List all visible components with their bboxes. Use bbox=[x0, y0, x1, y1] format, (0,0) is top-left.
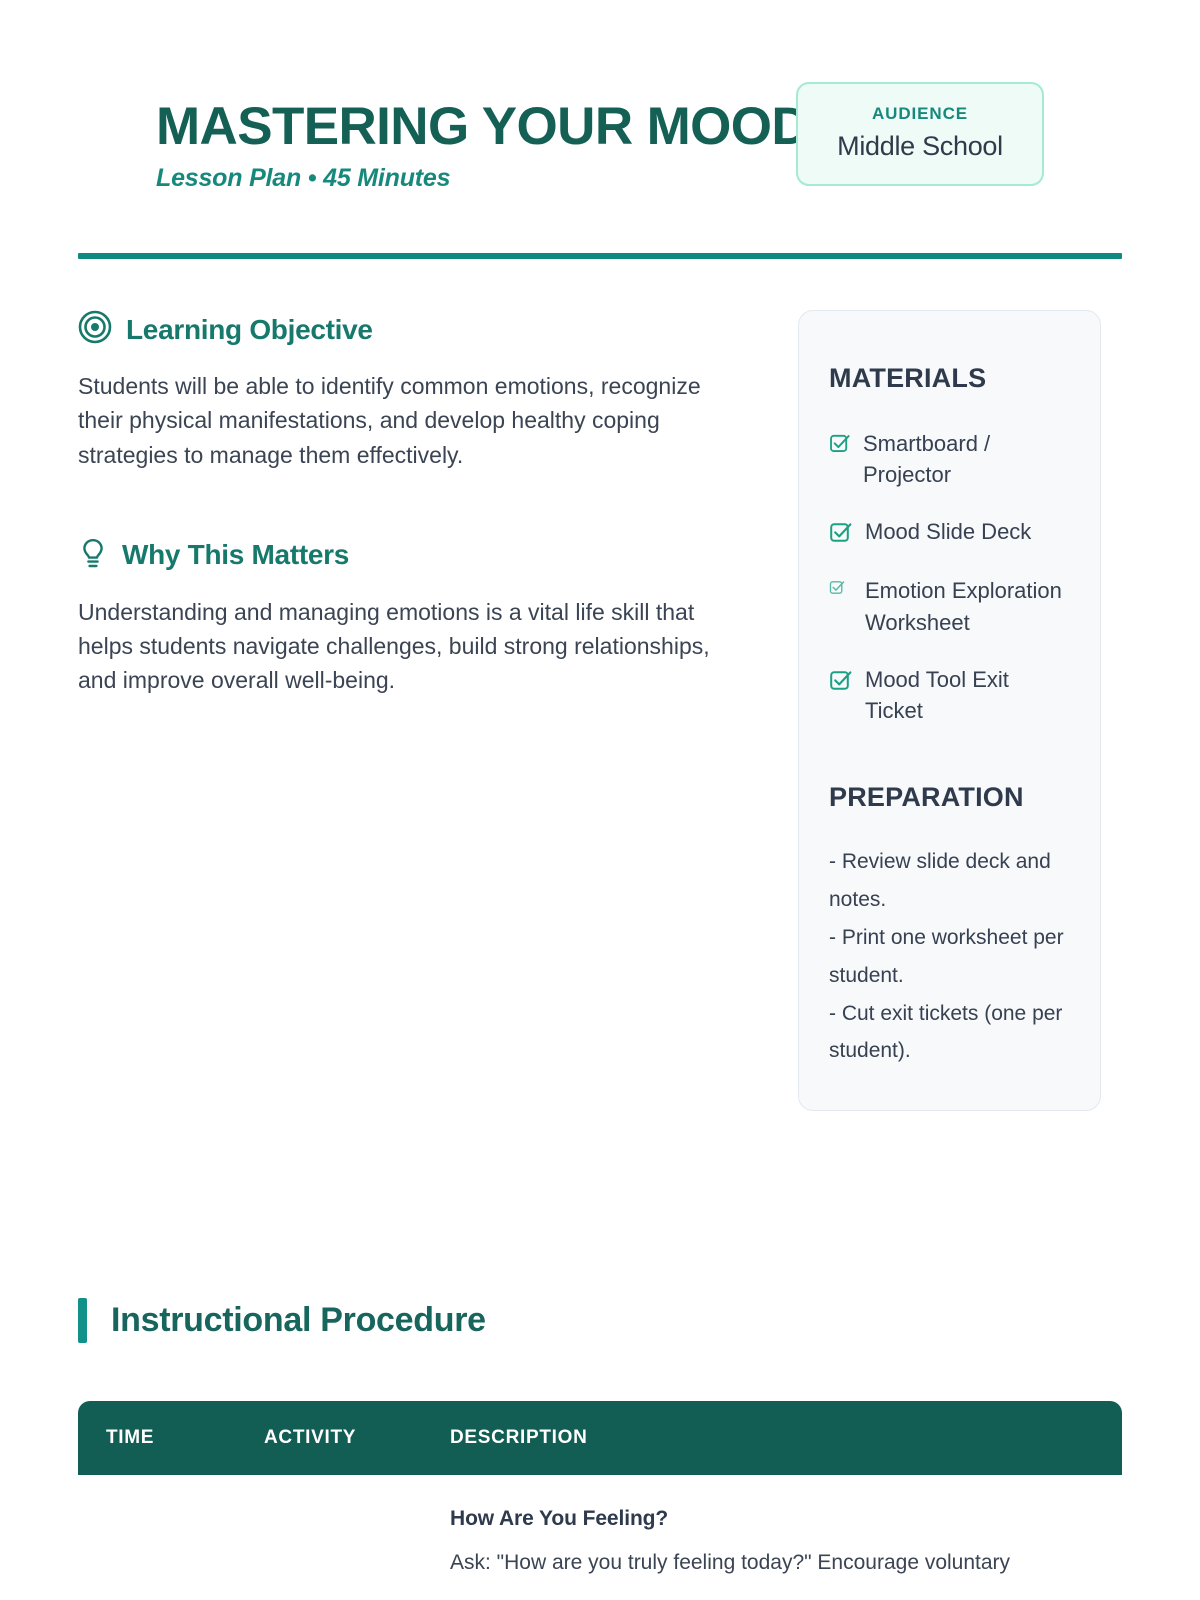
sidebar-column: MATERIALS Smartboard / Projector bbox=[798, 310, 1101, 1111]
preparation-list: - Review slide deck and notes. - Print o… bbox=[829, 843, 1070, 1070]
procedure-heading: Instructional Procedure bbox=[78, 1298, 1122, 1343]
procedure-title: Instructional Procedure bbox=[111, 1301, 486, 1340]
materials-list: Smartboard / Projector Mood Slide Deck bbox=[829, 428, 1070, 726]
table-header-row: TIME ACTIVITY DESCRIPTION bbox=[78, 1401, 1122, 1475]
list-item: - Print one worksheet per student. bbox=[829, 919, 1070, 995]
checkbox-checked-icon bbox=[829, 432, 851, 490]
activity-description: Ask: "How are you truly feeling today?" … bbox=[450, 1547, 1122, 1579]
cell-description: How Are You Feeling? Ask: "How are you t… bbox=[450, 1507, 1122, 1579]
cell-activity bbox=[264, 1507, 450, 1579]
checkbox-checked-icon bbox=[829, 579, 845, 619]
list-item: Mood Tool Exit Ticket bbox=[829, 664, 1070, 726]
learning-objective-section: Learning Objective Students will be able… bbox=[78, 310, 750, 472]
column-header-activity: ACTIVITY bbox=[264, 1427, 450, 1449]
table-row: How Are You Feeling? Ask: "How are you t… bbox=[78, 1475, 1122, 1579]
checkbox-checked-icon bbox=[829, 668, 853, 726]
lesson-plan-page: MASTERING YOUR MOOD Lesson Plan • 45 Min… bbox=[0, 0, 1200, 1600]
list-item: - Review slide deck and notes. bbox=[829, 843, 1070, 919]
material-label: Mood Tool Exit Ticket bbox=[865, 664, 1070, 726]
header-divider bbox=[78, 253, 1122, 259]
material-label: Emotion Exploration Worksheet bbox=[865, 575, 1070, 637]
audience-value: Middle School bbox=[808, 131, 1032, 162]
content-area: Learning Objective Students will be able… bbox=[78, 310, 1122, 1111]
learning-objective-text: Students will be able to identify common… bbox=[78, 369, 750, 472]
column-header-time: TIME bbox=[106, 1427, 264, 1449]
list-item: Mood Slide Deck bbox=[829, 516, 1070, 549]
document-header: MASTERING YOUR MOOD Lesson Plan • 45 Min… bbox=[78, 0, 1122, 168]
column-header-description: DESCRIPTION bbox=[450, 1427, 1122, 1449]
materials-card: MATERIALS Smartboard / Projector bbox=[798, 310, 1101, 1111]
material-label: Smartboard / Projector bbox=[863, 428, 1070, 490]
lightbulb-icon bbox=[78, 536, 108, 575]
section-title: Why This Matters bbox=[122, 539, 349, 571]
list-item: - Cut exit tickets (one per student). bbox=[829, 995, 1070, 1071]
procedure-table: TIME ACTIVITY DESCRIPTION How Are You Fe… bbox=[78, 1401, 1122, 1579]
audience-badge: AUDIENCE Middle School bbox=[796, 82, 1044, 186]
section-title: Learning Objective bbox=[126, 314, 373, 346]
materials-title: MATERIALS bbox=[829, 363, 1070, 394]
audience-label: AUDIENCE bbox=[808, 104, 1032, 124]
target-icon bbox=[78, 310, 112, 349]
instructional-procedure-section: Instructional Procedure TIME ACTIVITY DE… bbox=[78, 1298, 1122, 1579]
accent-bar bbox=[78, 1298, 87, 1343]
list-item: Smartboard / Projector bbox=[829, 428, 1070, 490]
material-label: Mood Slide Deck bbox=[865, 516, 1031, 549]
main-column: Learning Objective Students will be able… bbox=[78, 310, 750, 1111]
list-item: Emotion Exploration Worksheet bbox=[829, 575, 1070, 637]
learning-objective-heading: Learning Objective bbox=[78, 310, 750, 349]
checkbox-checked-icon bbox=[829, 520, 853, 549]
activity-title: How Are You Feeling? bbox=[450, 1507, 1122, 1531]
why-this-matters-section: Why This Matters Understanding and manag… bbox=[78, 536, 750, 698]
section-spacer bbox=[78, 472, 750, 536]
cell-time bbox=[106, 1507, 264, 1579]
preparation-title: PREPARATION bbox=[829, 782, 1070, 813]
why-this-matters-heading: Why This Matters bbox=[78, 536, 750, 575]
why-this-matters-text: Understanding and managing emotions is a… bbox=[78, 595, 750, 698]
